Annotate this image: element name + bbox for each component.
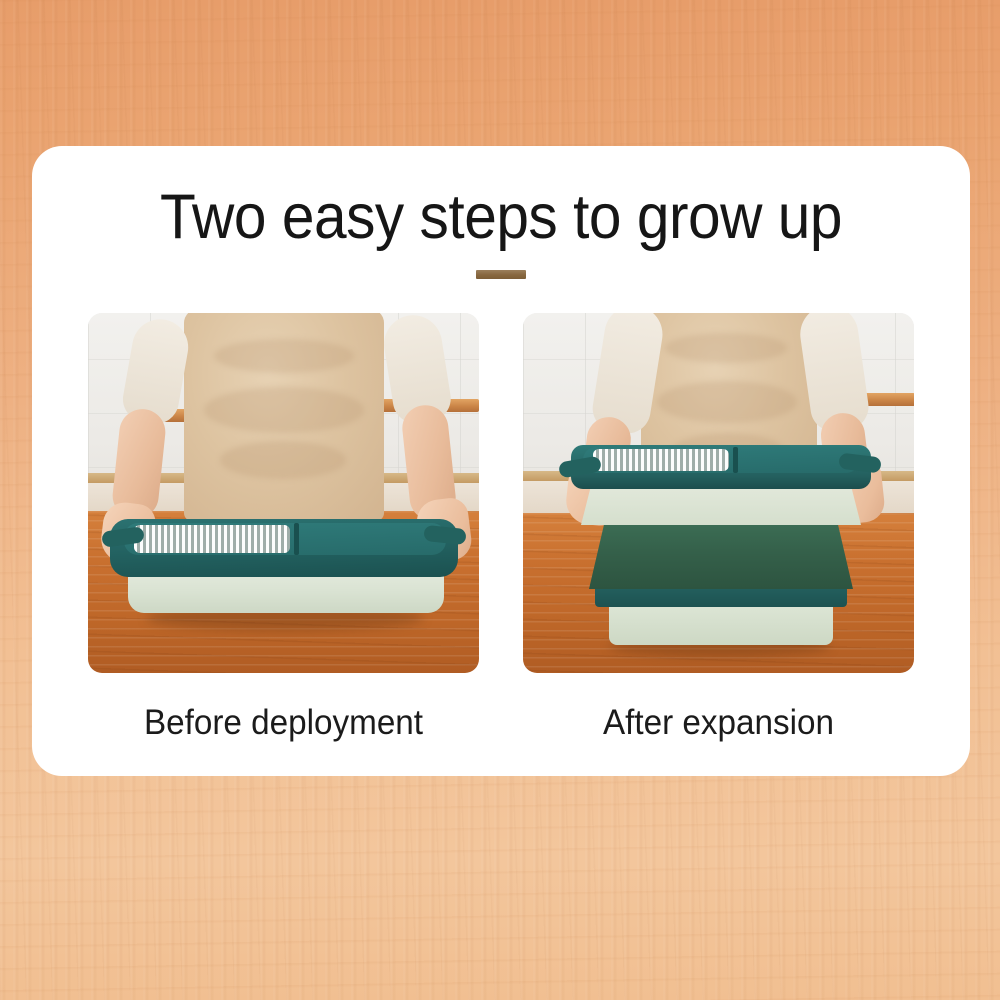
grate-ribs (134, 525, 290, 553)
photo-panel-before[interactable] (88, 313, 479, 673)
basket-drain-grate (593, 449, 729, 471)
basket-base-expanded (609, 603, 833, 645)
caption-after: After expansion (533, 701, 904, 761)
apron-fold-1 (665, 333, 787, 363)
caption-before: Before deployment (98, 701, 469, 761)
basket-drain-grate (134, 525, 290, 553)
panel-captions: Before deployment After expansion (88, 701, 914, 761)
apron-fold-1 (214, 339, 354, 373)
photo-scene-before (88, 313, 479, 673)
basket-bellows-band (589, 521, 853, 589)
content-card: Two easy steps to grow up (32, 146, 970, 776)
photo-panel-after[interactable] (523, 313, 914, 673)
product-infographic-page: Two easy steps to grow up (0, 0, 1000, 1000)
apron-fold-2 (204, 387, 364, 433)
basket-lid-divider (294, 523, 299, 555)
comparison-panels (88, 313, 914, 673)
basket-lid-divider (733, 447, 738, 473)
photo-scene-after (523, 313, 914, 673)
title-divider-bar (476, 270, 526, 279)
page-title: Two easy steps to grow up (65, 182, 937, 252)
grate-ribs (593, 449, 729, 471)
apron-fold-2 (657, 381, 797, 423)
apron-fold-3 (220, 441, 346, 479)
